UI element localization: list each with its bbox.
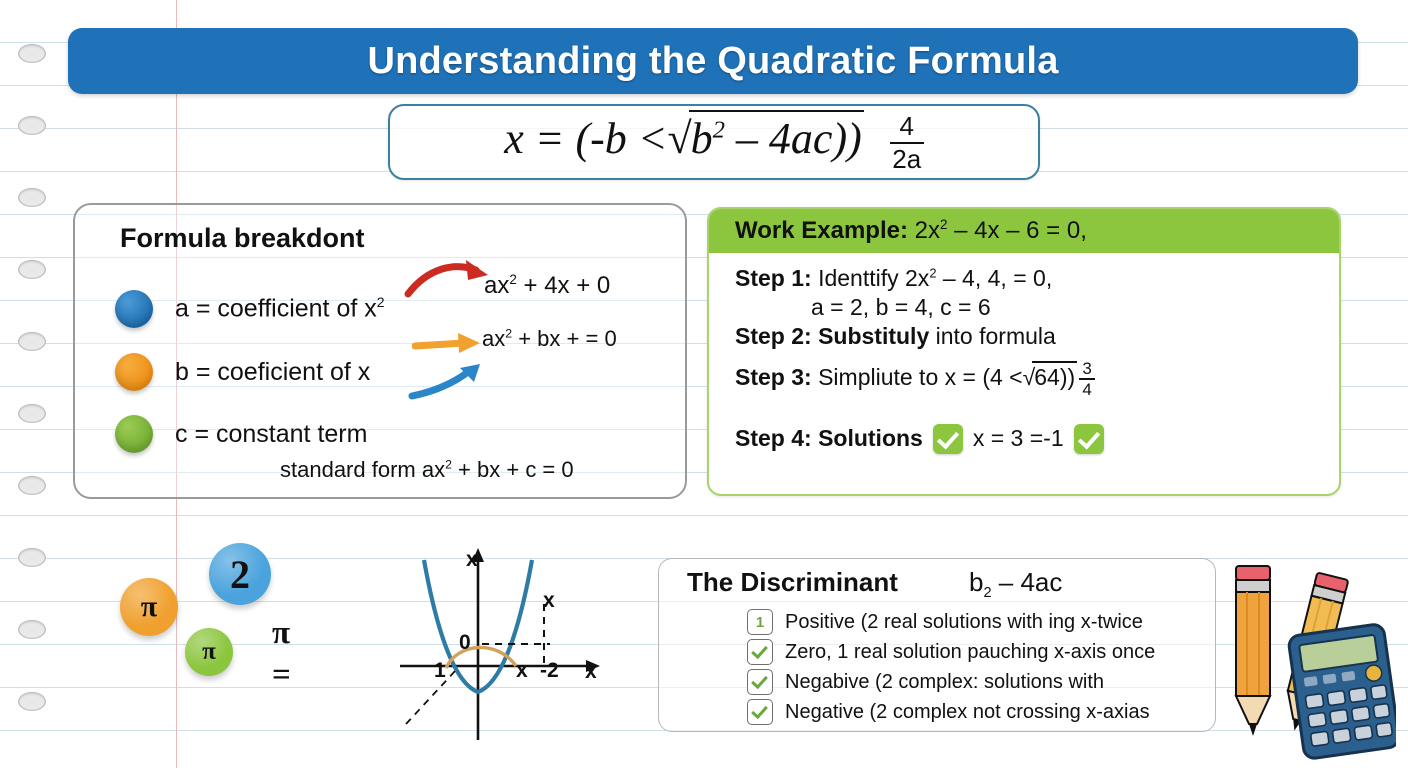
graph-x-axis-label: x [585,660,597,684]
radicand-base: b [691,114,713,163]
work-step-4: Step 4: Solutionsx = 3 =-1 [735,424,1339,454]
binder-hole [18,332,46,351]
binder-hole [18,44,46,63]
work-example-panel: Work Example: 2x2 – 4x – 6 = 0, Step 1: … [707,207,1341,496]
graph-tick-left: 1 [434,659,446,683]
calculator-icon [1288,623,1396,759]
check-icon [747,669,773,695]
work-step-2: Step 2: Substituly into formula [735,323,1339,350]
curved-arrow-red-icon [404,258,494,300]
standard-form-text: standard form ax2 + bx + c = 0 [280,457,574,483]
graph-tick-mid: x [516,659,528,683]
check-icon-left [933,424,963,454]
square-root-icon: √b2 – 4ac)) [667,110,863,164]
straight-arrow-orange-icon [412,330,490,358]
breakdown-item-c: c = constant term [115,415,367,453]
decorative-bubble-1: 2 [209,543,271,605]
page-title-banner: Understanding the Quadratic Formula [68,28,1358,94]
discriminant-expression: b2 – 4ac [969,567,1062,601]
decorative-symbol-1: = [272,657,291,694]
binder-hole [18,260,46,279]
curved-arrow-blue-icon [408,362,492,402]
check-icon [747,699,773,725]
bullet-dot-blue [115,290,153,328]
pencil-icon-1 [1236,566,1270,736]
graph-origin-label: 0 [459,631,471,655]
check-icon-right [1074,424,1104,454]
discriminant-item-negabive-label: Negabive (2 complex: solutions with [785,671,1104,694]
work-example-title: Work Example: 2x2 – 4x – 6 = 0, [735,217,1087,245]
decorative-bubble-0: π [120,578,178,636]
binder-hole [18,620,46,639]
quadratic-formula-expression: x = (-b <√b2 – 4ac))42a [504,110,924,173]
discriminant-item-zero-label: Zero, 1 real solution pauching x-axis on… [785,641,1155,664]
binder-hole [18,404,46,423]
work-step-3: Step 3: Simpliute to x = (4 <√64))34 [735,360,1339,398]
fraction-numerator: 4 [900,113,914,140]
parabola-graph [398,542,618,742]
graph-dashed-label: x [543,589,555,613]
step3-fraction: 34 [1079,360,1095,398]
binder-hole [18,692,46,711]
binder-hole [18,188,46,207]
square-root-icon-step3: √64)) [1023,361,1078,391]
radicand-rest: – 4ac)) [725,114,862,163]
formula-fraction: 42a [890,113,924,174]
bullet-dot-orange [115,353,153,391]
bullet-dot-green [115,415,153,453]
breakdown-item-a: a = coefficient of x2 [115,290,385,328]
decorative-symbol-0: π [272,615,290,652]
formula-lhs: x = (-b < [504,114,667,163]
dashed-diagonal [406,670,456,724]
breakdown-item-b: b = coeficient of x [115,353,370,391]
binder-hole [18,476,46,495]
work-example-header: Work Example: 2x2 – 4x – 6 = 0, [709,209,1339,253]
discriminant-item-negative: Negative (2 complex not crossing x-axias [747,699,1150,725]
page-title: Understanding the Quadratic Formula [367,40,1058,83]
fraction-denominator: 2a [892,146,921,173]
binder-hole [18,116,46,135]
discriminant-item-negabive: Negabive (2 complex: solutions with [747,669,1104,695]
breakdown-heading: Formula breakdont [120,223,365,254]
side-equation-1: ax2 + 4x + 0 [484,272,610,300]
discriminant-panel: The Discriminant b2 – 4ac Positive (2 re… [658,558,1216,732]
side-equation-2: ax2 + bx + = 0 [482,326,617,352]
breakdown-item-c-label: c = constant term [175,420,367,449]
discriminant-item-zero: Zero, 1 real solution pauching x-axis on… [747,639,1155,665]
work-step-1: Step 1: Identtify 2x2 – 4, 4, = 0, [735,265,1339,292]
one-badge-icon [747,609,773,635]
decorative-bubble-2: π [185,628,233,676]
graph-tick-right: -2 [540,659,559,683]
quadratic-formula-box: x = (-b <√b2 – 4ac))42a [388,104,1040,180]
graph-y-axis-label: x [466,548,478,572]
radicand-exponent: 2 [713,117,725,144]
stationery-illustration [1216,552,1396,764]
binder-hole [18,548,46,567]
discriminant-item-positive-label: Positive (2 real solutions with ing x-tw… [785,611,1143,634]
discriminant-title: The Discriminant [687,567,898,598]
discriminant-item-positive: Positive (2 real solutions with ing x-tw… [747,609,1143,635]
breakdown-item-a-label: a = coefficient of x2 [175,294,385,323]
work-example-body: Step 1: Identtify 2x2 – 4, 4, = 0, a = 2… [709,253,1339,454]
discriminant-item-negative-label: Negative (2 complex not crossing x-axias [785,701,1150,724]
breakdown-item-b-label: b = coeficient of x [175,358,370,387]
check-icon [747,639,773,665]
work-step-1-coefficients: a = 2, b = 4, c = 6 [811,294,1339,321]
